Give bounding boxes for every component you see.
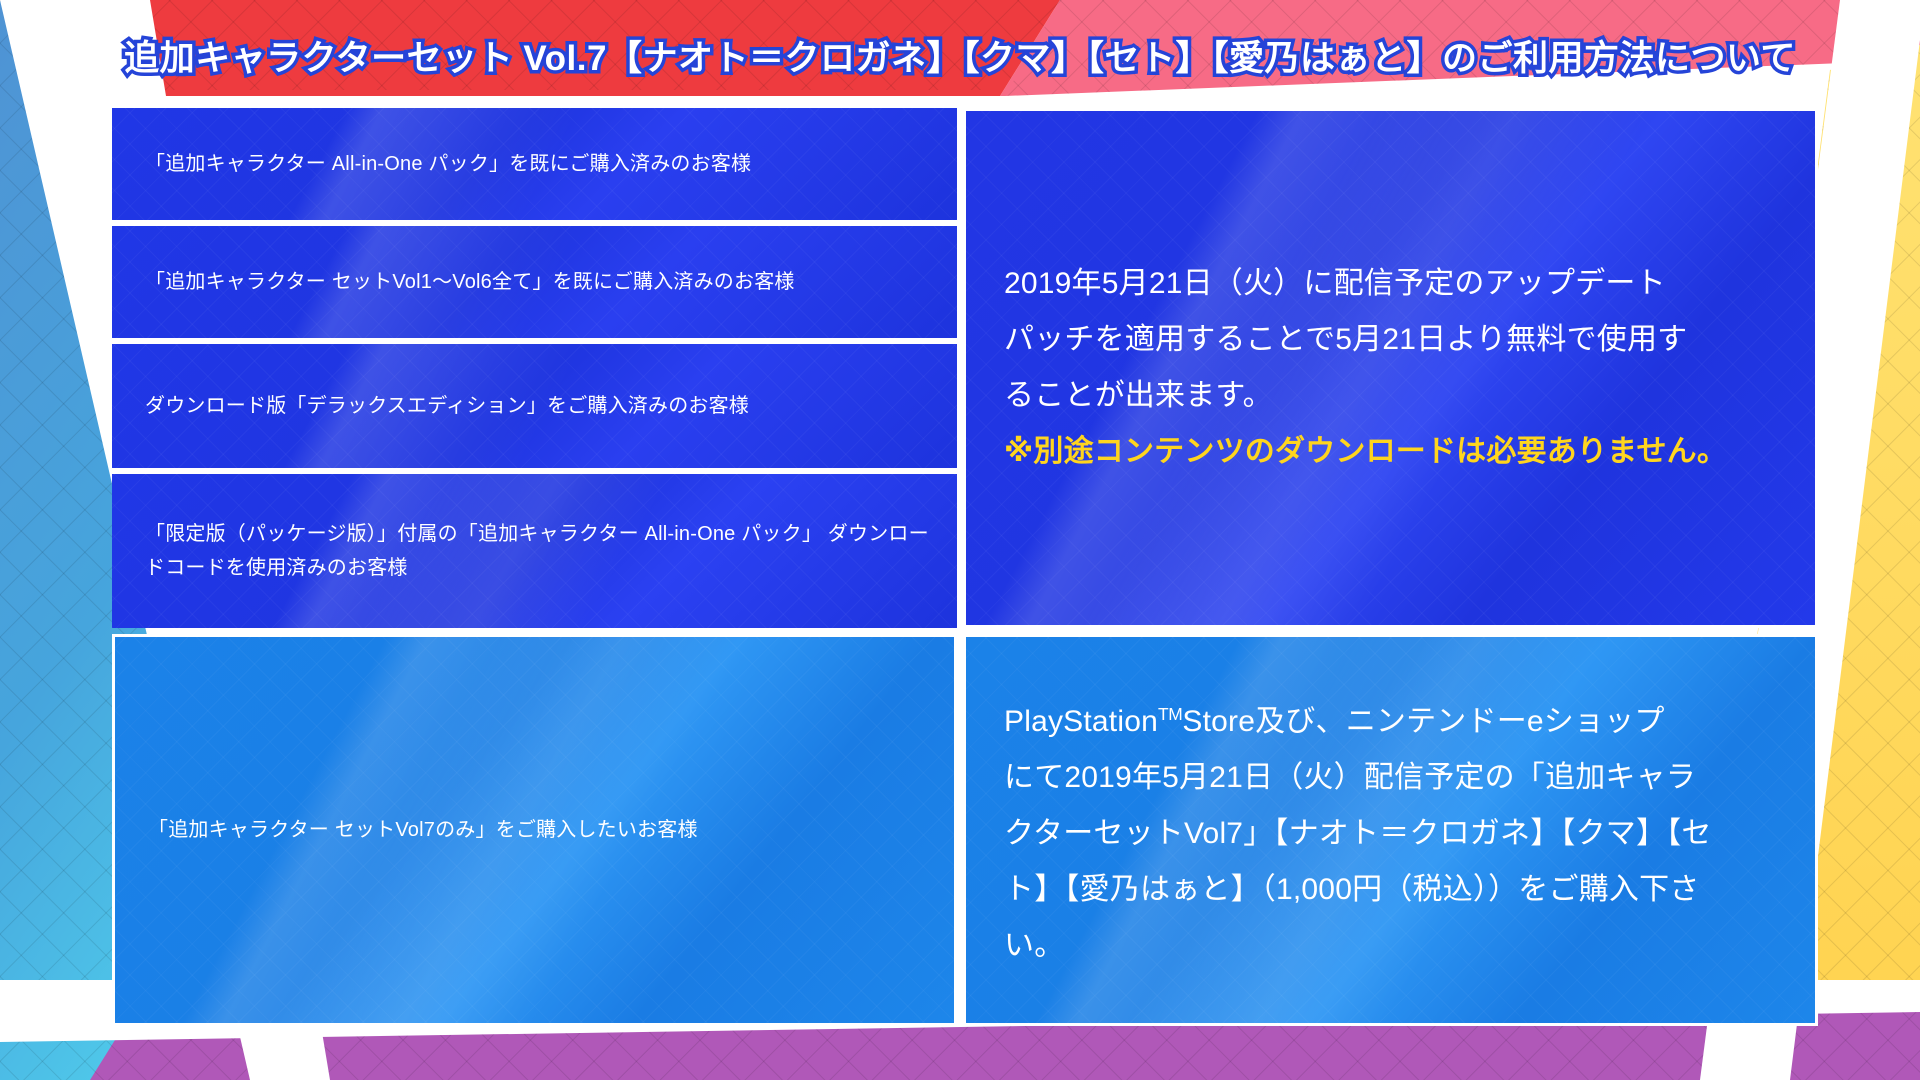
result-2-line-2: にて2019年5月21日（火）配信予定の「追加キャラ <box>1004 750 1712 806</box>
result-2-line-5: い。 <box>1004 918 1712 974</box>
result-1-note: ※別途コンテンツのダウンロードは必要ありません。 <box>1004 424 1727 480</box>
table-row-2-condition: 「追加キャラクター セットVol7のみ」をご購入したいお客様 <box>112 634 957 1026</box>
condition-label-vol7-only: 「追加キャラクター セットVol7のみ」をご購入したいお客様 <box>115 813 698 847</box>
table-row-1-conditions: 「追加キャラクター All-in-One パック」を既にご購入済みのお客様 「追… <box>112 108 957 628</box>
info-table: 「追加キャラクター All-in-One パック」を既にご購入済みのお客様 「追… <box>112 108 1812 1020</box>
condition-label-2: 「追加キャラクター セットVol1〜Vol6全て」を既にご購入済みのお客様 <box>112 265 813 299</box>
condition-label-4-line1: 「限定版（パッケージ版）」付属の「追加キャラクター All-in-One パック… <box>145 523 822 545</box>
trademark-symbol: TM <box>1158 704 1182 724</box>
result-2-line-1: PlayStationTMStore及び、ニンテンドーeショップ <box>1004 686 1712 750</box>
condition-row-vol1-vol6: 「追加キャラクター セットVol1〜Vol6全て」を既にご購入済みのお客様 <box>112 226 957 338</box>
result-2-line-4: ト】【愛乃はぁと】（1,000円（税込））をご購入下さ <box>1004 862 1712 918</box>
page-title: 追加キャラクターセット Vol.7【ナオト＝クロガネ】【クマ】【セト】【愛乃はぁ… <box>0 26 1920 84</box>
slide-root: 追加キャラクターセット Vol.7【ナオト＝クロガネ】【クマ】【セト】【愛乃はぁ… <box>0 0 1920 1080</box>
page-title-text: 追加キャラクターセット Vol.7【ナオト＝クロガネ】【クマ】【セト】【愛乃はぁ… <box>124 30 1796 81</box>
result-1-line-2: パッチを適用することで5月21日より無料で使用す <box>1004 312 1727 368</box>
table-row-1-result: 2019年5月21日（火）に配信予定のアップデート パッチを適用することで5月2… <box>963 108 1818 628</box>
condition-row-all-in-one: 「追加キャラクター All-in-One パック」を既にご購入済みのお客様 <box>112 108 957 220</box>
condition-label-3: ダウンロード版「デラックスエディション」をご購入済みのお客様 <box>112 389 767 423</box>
condition-row-limited-edition: 「限定版（パッケージ版）」付属の「追加キャラクター All-in-One パック… <box>112 474 957 628</box>
condition-row-deluxe-edition: ダウンロード版「デラックスエディション」をご購入済みのお客様 <box>112 344 957 468</box>
result-2-line-3: クターセットVol7」【ナオト＝クロガネ】【クマ】【セ <box>1004 806 1712 862</box>
result-text-2: PlayStationTMStore及び、ニンテンドーeショップ にて2019年… <box>966 686 1740 974</box>
result-text-1: 2019年5月21日（火）に配信予定のアップデート パッチを適用することで5月2… <box>966 256 1755 480</box>
condition-label-1: 「追加キャラクター All-in-One パック」を既にご購入済みのお客様 <box>112 147 769 181</box>
result-2-line-1-rest: Store及び、ニンテンドーeショップ <box>1182 705 1664 738</box>
table-row-2-result: PlayStationTMStore及び、ニンテンドーeショップ にて2019年… <box>963 634 1818 1026</box>
result-1-line-1: 2019年5月21日（火）に配信予定のアップデート <box>1004 256 1727 312</box>
result-1-line-3: ることが出来ます。 <box>1004 368 1727 424</box>
condition-label-4: 「限定版（パッケージ版）」付属の「追加キャラクター All-in-One パック… <box>112 517 957 585</box>
playstation-store-label: PlayStation <box>1004 705 1158 738</box>
